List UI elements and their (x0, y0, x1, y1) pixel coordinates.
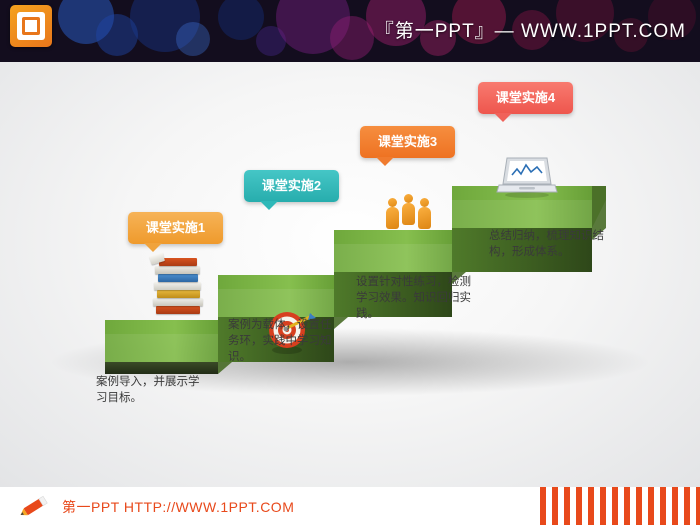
step-caption-4: 总结归纳，梳理知识结构，形成体系。 (489, 228, 609, 260)
step-label-1-text: 课堂实施1 (146, 220, 205, 235)
step-caption-3-text: 设置针对性练习，检测学习效果。知识回归实践。 (356, 276, 471, 320)
step-label-2[interactable]: 课堂实施2 (244, 170, 339, 202)
step-label-3-text: 课堂实施3 (378, 134, 437, 149)
footer-stripes (540, 487, 700, 525)
bokeh-circle (176, 22, 210, 56)
top-banner: 『第一PPT』— WWW.1PPT.COM (0, 0, 700, 62)
site-title: 『第一PPT』— WWW.1PPT.COM (375, 16, 686, 43)
slide-canvas: 课堂实施1 课堂实施2 课堂实施3 课堂实施4 (0, 62, 700, 487)
step-caption-2-text: 案例为载体，设置任务环，实践中学习知识。 (228, 319, 332, 363)
ppt-logo-inner (17, 12, 45, 40)
step-label-2-text: 课堂实施2 (262, 178, 321, 193)
bottom-banner: 第一PPT HTTP://WWW.1PPT.COM (0, 487, 700, 525)
pencil-icon (18, 493, 52, 519)
step-caption-2: 案例为载体，设置任务环，实践中学习知识。 (228, 317, 340, 365)
laptop-computer-icon (495, 154, 559, 198)
ppt-logo-icon (10, 5, 52, 47)
step-label-4[interactable]: 课堂实施4 (478, 82, 573, 114)
step-label-1[interactable]: 课堂实施1 (128, 212, 223, 244)
step-caption-4-text: 总结归纳，梳理知识结构，形成体系。 (489, 230, 604, 258)
step-label-4-text: 课堂实施4 (496, 90, 555, 105)
staircase-graphic (0, 62, 700, 487)
step-caption-3: 设置针对性练习，检测学习效果。知识回归实践。 (356, 274, 474, 322)
three-people-icon (386, 192, 438, 232)
stack-of-books-icon (148, 254, 206, 318)
step-label-3[interactable]: 课堂实施3 (360, 126, 455, 158)
footer-text: 第一PPT HTTP://WWW.1PPT.COM (62, 497, 294, 517)
step-caption-1: 案例导入，并展示学习目标。 (96, 374, 206, 406)
step-caption-1-text: 案例导入，并展示学习目标。 (96, 376, 200, 404)
slide-page: 『第一PPT』— WWW.1PPT.COM (0, 0, 700, 525)
